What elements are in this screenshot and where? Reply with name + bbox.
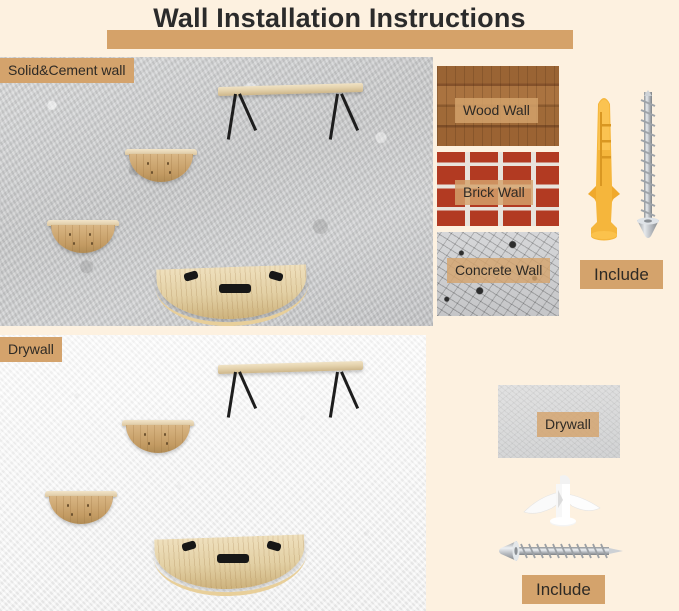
drywall-panel-label: Drywall [0,337,62,362]
instruction-sheet: Wall Installation Instructions [0,0,679,611]
mount-hole [73,242,76,245]
shelf-bracket-left-diag [238,93,257,131]
mount-hole [67,504,70,507]
mount-hole [89,513,92,516]
mount-hole [147,162,150,165]
step-body [129,154,194,182]
step-body [126,425,191,453]
bridge-rim [155,272,310,326]
drywall-wall-photo [0,335,426,611]
shelf-bracket-left-diag [238,371,257,409]
mount-hole [166,442,169,445]
mount-hole [144,433,147,436]
mount-hole [169,171,172,174]
brick-wall-label: Brick Wall [455,180,533,205]
shelf-bracket-right-diag [340,371,359,409]
mount-hole [91,242,94,245]
shelf-bracket-left [227,372,237,418]
mount-hole [167,162,170,165]
bridge-grip [219,284,251,293]
cat-step-lower [47,220,119,256]
cement-wall-label: Solid&Cement wall [0,58,134,83]
yellow-plastic-wall-anchor-icon [586,90,622,242]
silver-wood-screw-horizontal-icon [495,538,630,564]
step-body [51,225,116,253]
wall-shelf [218,85,363,135]
silver-wood-screw-icon [634,88,662,244]
mount-hole [87,504,90,507]
cat-step-upper [122,420,194,456]
mount-hole [69,233,72,236]
shelf-bracket-left [227,94,237,140]
mount-hole [164,433,167,436]
white-toggle-drywall-anchor-icon [520,472,604,534]
cat-step-upper [125,149,197,185]
mount-hole [89,233,92,236]
step-body [49,496,114,524]
curved-cat-bridge [157,267,307,319]
mount-hole [148,442,151,445]
concrete-wall-label: Concrete Wall [447,258,550,283]
include-label-solid-wall: Include [580,260,663,289]
cement-wall-photo [0,57,433,326]
curved-cat-bridge [155,537,305,589]
include-label-drywall: Include [522,575,605,604]
shelf-bracket-right-diag [340,93,359,131]
bridge-grip [217,554,249,563]
cat-step-lower [45,491,117,527]
shelf-bracket-right [329,372,339,418]
mount-hole [151,171,154,174]
wall-shelf [218,363,363,413]
drywall-swatch-label: Drywall [537,412,599,437]
page-title: Wall Installation Instructions [0,0,679,55]
shelf-bracket-right [329,94,339,140]
mount-hole [71,513,74,516]
page-title-text: Wall Installation Instructions [0,3,679,34]
bridge-rim [153,542,308,599]
wood-wall-label: Wood Wall [455,98,538,123]
